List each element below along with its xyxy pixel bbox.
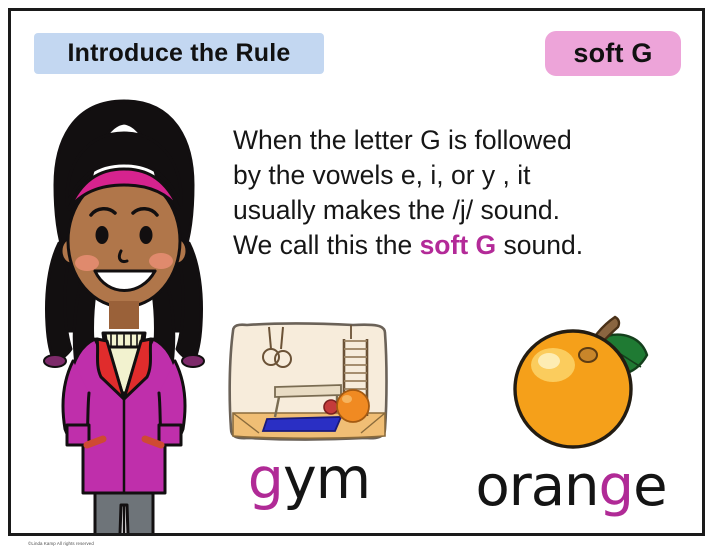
girl-illustration [29, 93, 219, 533]
rule-line-4-highlight: soft G [420, 230, 497, 260]
gym-exercise-ball [337, 390, 369, 422]
eye-left [96, 226, 109, 244]
example-card-gym: gym [225, 321, 393, 526]
gym-interior-picture [225, 321, 393, 443]
rule-line-4: We call this the soft G sound. [233, 228, 693, 263]
gym-mat [263, 417, 341, 431]
gym-small-ball [324, 400, 338, 414]
orange-fruit-svg [481, 311, 656, 451]
slide-header: Introduce the Rule soft G [11, 11, 702, 93]
word-orange-prefix: oran [475, 454, 598, 519]
orange-fruit-picture [481, 311, 656, 451]
word-gym-soft-g: g [248, 446, 283, 512]
girl-illustration-svg [29, 93, 219, 533]
word-label-gym: gym [225, 449, 393, 509]
rule-line-3: usually makes the /j/ sound. [233, 193, 693, 228]
introduce-the-rule-badge: Introduce the Rule [34, 33, 324, 74]
cheek-right [149, 253, 173, 269]
rule-line-4-suffix: sound. [496, 230, 583, 260]
word-label-orange: orange [441, 457, 701, 517]
rule-line-1: When the letter G is followed [233, 123, 693, 158]
gym-interior-svg [225, 321, 393, 443]
example-card-orange: orange [441, 311, 701, 526]
slide-canvas: Introduce the Rule soft G [8, 8, 705, 536]
rule-text-block: When the letter G is followed by the vow… [233, 123, 693, 263]
copyright-footer: ©Linda Kamp All rights reserved [28, 541, 94, 546]
word-orange-suffix: e [633, 454, 666, 519]
eye-right [140, 226, 153, 244]
orange-navel [579, 348, 597, 362]
rule-line-2: by the vowels e, i, or y , it [233, 158, 693, 193]
rule-line-4-prefix: We call this the [233, 230, 420, 260]
word-orange-soft-g: g [599, 454, 634, 519]
orange-body [515, 331, 631, 447]
cheek-left [75, 255, 99, 271]
soft-g-badge: soft G [545, 31, 681, 76]
word-gym-rest: ym [283, 446, 370, 512]
neck [109, 301, 139, 329]
